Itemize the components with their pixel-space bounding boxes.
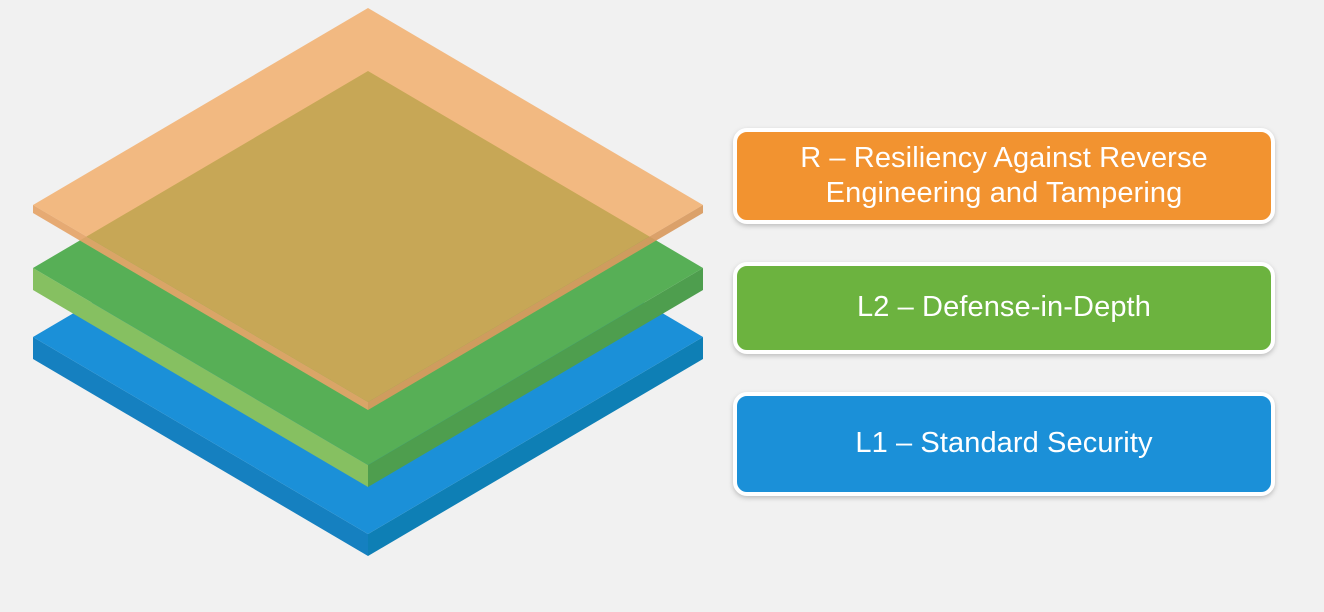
label-box-defense-in-depth[interactable]: L2 – Defense-in-Depth	[733, 262, 1275, 354]
security-layer-stack	[0, 0, 740, 612]
label-box-standard-security[interactable]: L1 – Standard Security	[733, 392, 1275, 496]
layer-label-column: R – Resiliency Against Reverse Engineeri…	[733, 0, 1293, 612]
label-text-standard-security: L1 – Standard Security	[839, 426, 1168, 461]
label-text-defense-in-depth: L2 – Defense-in-Depth	[841, 290, 1167, 325]
label-box-resiliency[interactable]: R – Resiliency Against Reverse Engineeri…	[733, 128, 1275, 224]
label-text-resiliency: R – Resiliency Against Reverse Engineeri…	[784, 141, 1224, 212]
diagram-stage: R – Resiliency Against Reverse Engineeri…	[0, 0, 1324, 612]
